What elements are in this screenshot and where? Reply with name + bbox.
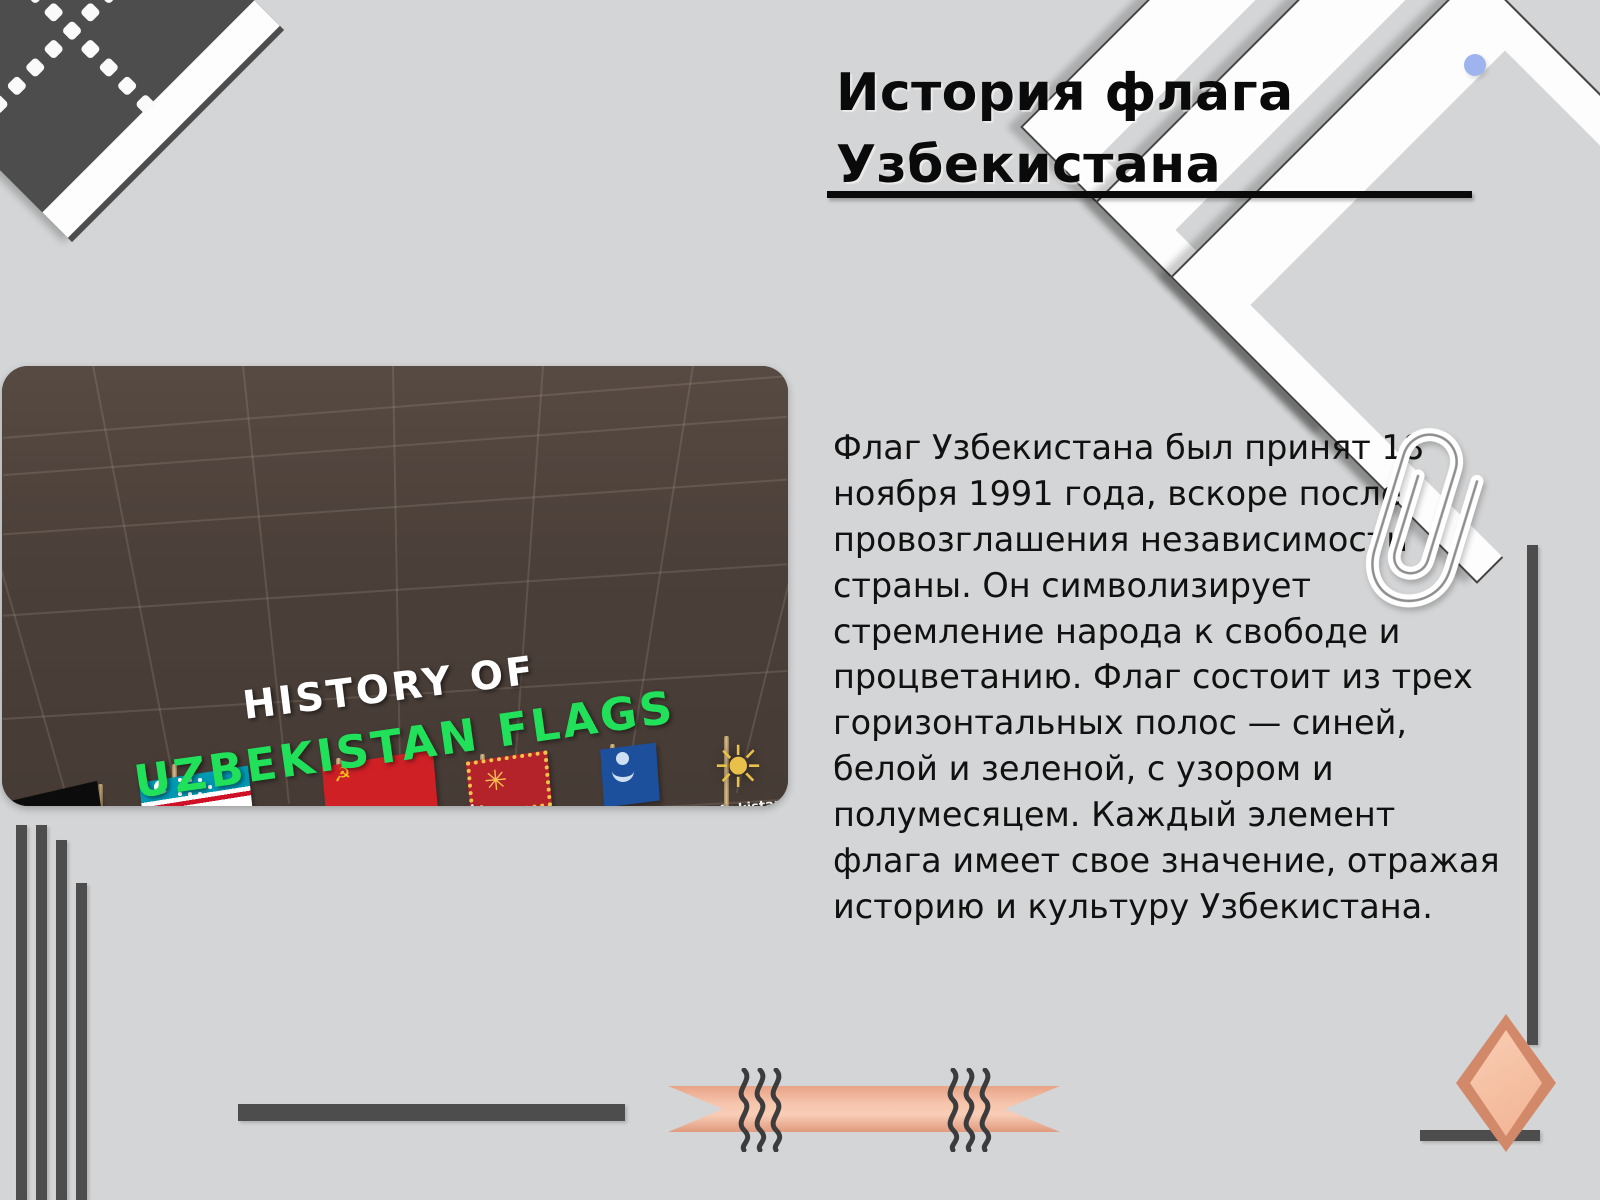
slide-canvas: История флага Узбекистана Флаг Узбекиста… xyxy=(0,0,1600,1200)
bottom-left-bar-1 xyxy=(16,825,27,1200)
bottom-left-horizontal-bar xyxy=(238,1104,625,1121)
dotted-cross-icon xyxy=(0,0,284,242)
squiggle-left-icon xyxy=(736,1068,788,1152)
page-title: История флага Узбекистана xyxy=(836,58,1516,202)
title-line-1: История флага xyxy=(836,58,1516,130)
flag-history-image: ☭✳☀БНСР☪☪✋Uzbekistan Flag In750-819Uzbek… xyxy=(2,366,788,806)
corner-diamond-inner xyxy=(1470,1030,1542,1136)
right-vertical-bar xyxy=(1527,545,1538,1045)
bottom-right-horizontal-bar xyxy=(1420,1130,1540,1141)
bottom-left-bar-3 xyxy=(56,840,67,1200)
title-underline-rule xyxy=(827,191,1472,198)
bottom-left-bar-2 xyxy=(36,825,47,1200)
ribbon-banner xyxy=(668,1086,1060,1132)
bottom-left-bar-4 xyxy=(76,883,87,1200)
squiggle-right-icon xyxy=(945,1068,997,1152)
